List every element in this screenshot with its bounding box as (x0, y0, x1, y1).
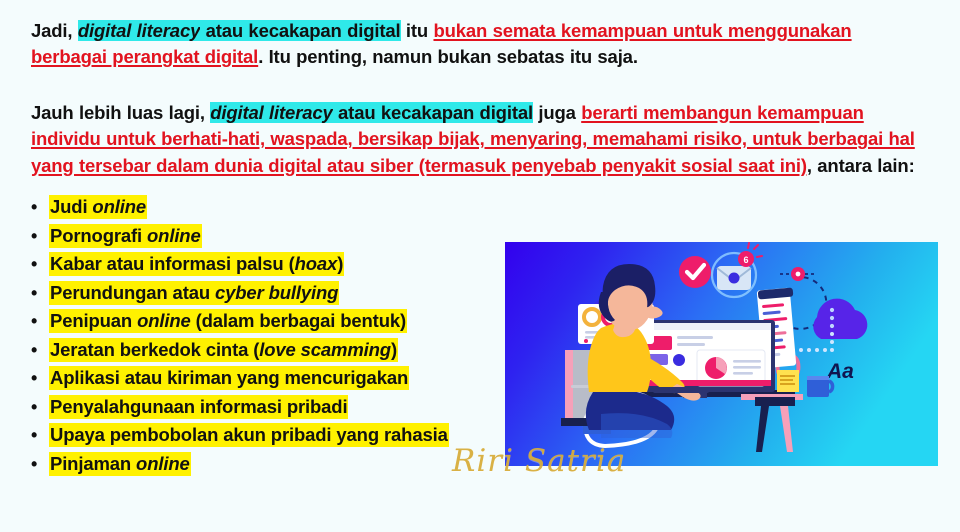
para1-segment-6: . Itu penting, namun bukan sebatas itu s… (258, 46, 638, 67)
list-item-text: Pornografi (50, 225, 147, 246)
list-item-text: Perundungan atau (50, 282, 215, 303)
list-item-text: Penipuan (50, 310, 137, 331)
list-item-text: Penyalahgunaan informasi pribadi (50, 396, 347, 417)
list-item-term-italic: online (136, 453, 190, 474)
bullet-dot-icon: • (31, 369, 49, 387)
list-item-label: Pornografi online (49, 224, 202, 248)
list-item-text: Jeratan berkedok cinta ( (50, 339, 259, 360)
para2-highlight-term-italic: digital literacy (210, 102, 332, 123)
bullet-dot-icon: • (31, 284, 49, 302)
bullet-dot-icon: • (31, 312, 49, 330)
list-item: •Upaya pembobolan akun pribadi yang raha… (31, 426, 501, 455)
list-item-term-italic: online (137, 310, 191, 331)
check-badge-icon (679, 256, 711, 288)
list-item-term-italic: online (147, 225, 201, 246)
list-item-term-italic: cyber bullying (215, 282, 338, 303)
list-item-text: Aplikasi atau kiriman yang mencurigakan (50, 367, 408, 388)
list-item-label: Upaya pembobolan akun pribadi yang rahas… (49, 423, 449, 447)
list-item-label: Penipuan online (dalam berbagai bentuk) (49, 309, 407, 333)
keyboard (653, 387, 709, 393)
para2-highlight-term: atau kecakapan digital (333, 102, 533, 123)
typography-icon: Aa (826, 360, 854, 383)
bullet-dot-icon: • (31, 227, 49, 245)
mail-badge-count: 6 (743, 255, 748, 265)
bullet-dot-icon: • (31, 398, 49, 416)
bullet-dot-icon: • (31, 198, 49, 216)
list-item-text-suffix: ) (391, 339, 397, 360)
sticky-note (777, 370, 799, 392)
list-item-label: Pinjaman online (49, 452, 191, 476)
list-item-label: Aplikasi atau kiriman yang mencurigakan (49, 366, 409, 390)
list-item-text: Pinjaman (50, 453, 136, 474)
paragraph-expanded: Jauh lebih luas lagi, digital literacy a… (31, 100, 929, 179)
para2-segment-4: juga (533, 102, 581, 123)
list-item-term-italic: online (92, 196, 146, 217)
para1-highlight-term: atau kecakapan digital (200, 20, 400, 41)
list-item-text: Judi (50, 196, 92, 217)
illustration-artwork: </> 6 (505, 242, 938, 466)
list-item-label: Judi online (49, 195, 147, 219)
list-item: •Pornografi online (31, 227, 501, 256)
paragraph-intro: Jadi, digital literacy atau kecakapan di… (31, 18, 929, 71)
digital-work-illustration: </> 6 (505, 242, 938, 466)
para2-segment-6: , antara lain: (807, 155, 915, 176)
list-item-text: Upaya pembobolan akun pribadi yang rahas… (50, 424, 448, 445)
list-item-term-italic: hoax (295, 253, 338, 274)
bullet-dot-icon: • (31, 455, 49, 473)
coffee-mug (807, 376, 833, 397)
list-item-label: Kabar atau informasi palsu (hoax) (49, 252, 344, 276)
bullet-dot-icon: • (31, 341, 49, 359)
para1-segment-4: itu (401, 20, 434, 41)
list-item-label: Jeratan berkedok cinta (love scamming) (49, 338, 398, 362)
threat-list: •Judi online•Pornografi online•Kabar ata… (31, 198, 501, 483)
list-item-text: Kabar atau informasi palsu ( (50, 253, 295, 274)
list-item-text-suffix: (dalam berbagai bentuk) (191, 310, 406, 331)
para1-highlight-term-italic: digital literacy (78, 20, 200, 41)
bullet-dot-icon: • (31, 255, 49, 273)
bullet-dot-icon: • (31, 426, 49, 444)
list-item-text-suffix: ) (337, 253, 343, 274)
author-watermark: Riri Satria (452, 443, 626, 479)
slide-canvas: Jadi, digital literacy atau kecakapan di… (0, 0, 960, 532)
list-item-term-italic: love scamming (259, 339, 391, 360)
list-item-label: Perundungan atau cyber bullying (49, 281, 339, 305)
list-item: •Kabar atau informasi palsu (hoax) (31, 255, 501, 284)
list-item: •Jeratan berkedok cinta (love scamming) (31, 341, 501, 370)
list-item: •Perundungan atau cyber bullying (31, 284, 501, 313)
para1-segment-1: Jadi, (31, 20, 78, 41)
list-item: •Penipuan online (dalam berbagai bentuk) (31, 312, 501, 341)
list-item: •Aplikasi atau kiriman yang mencurigakan (31, 369, 501, 398)
list-item: •Judi online (31, 198, 501, 227)
para2-segment-1: Jauh lebih luas lagi, (31, 102, 210, 123)
list-item: •Pinjaman online (31, 455, 501, 484)
list-item-label: Penyalahgunaan informasi pribadi (49, 395, 348, 419)
list-item: •Penyalahgunaan informasi pribadi (31, 398, 501, 427)
